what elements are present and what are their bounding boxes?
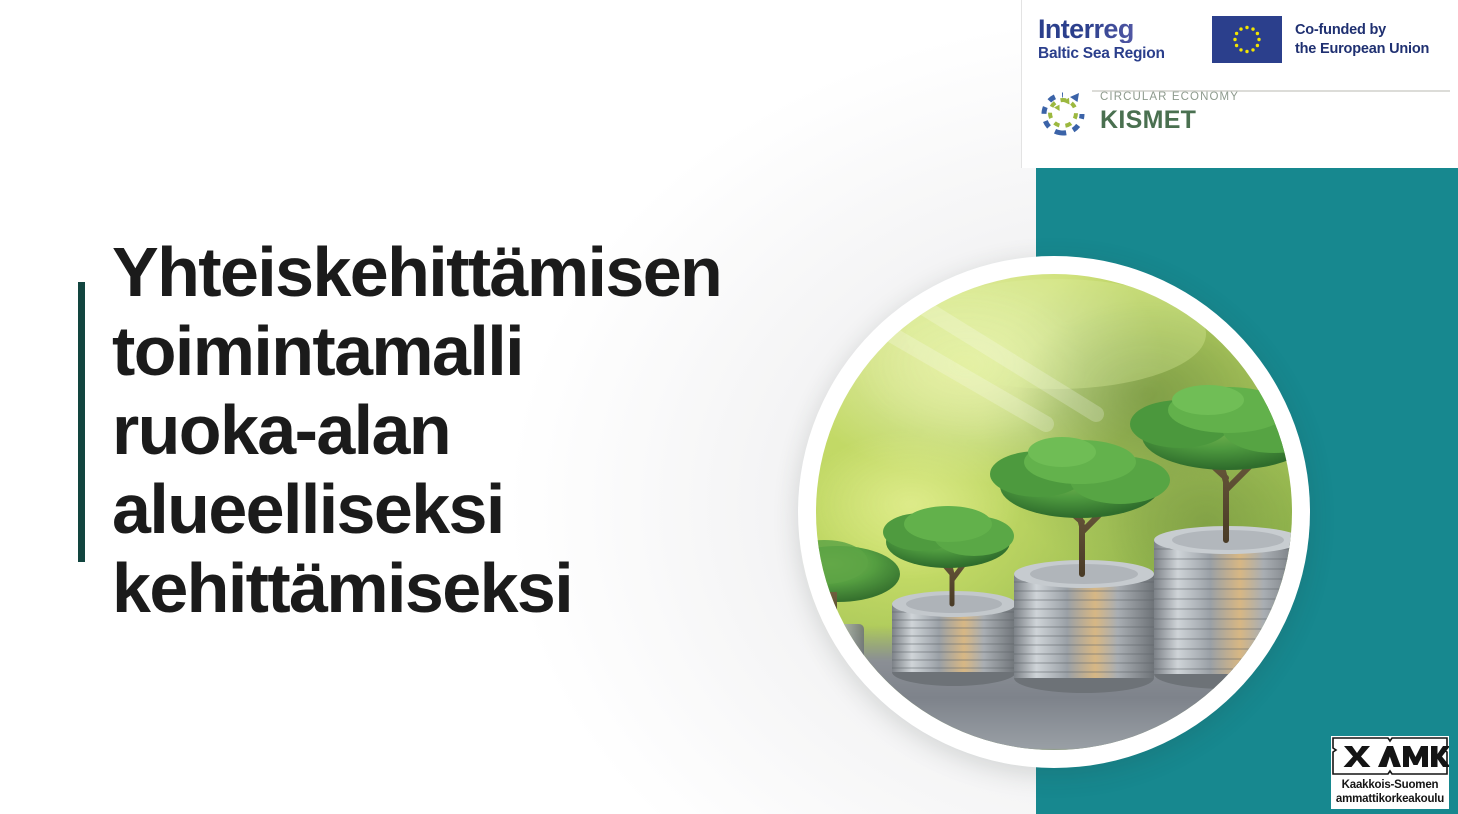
xamk-logo: Kaakkois-Suomen ammattikorkeakoulu	[1331, 736, 1449, 809]
kismet-logo: CIRCULAR ECONOMY KISMET	[1036, 85, 1239, 139]
eu-flag-icon	[1212, 16, 1282, 63]
xamk-wordmark-box	[1331, 736, 1449, 776]
slide-root: Interreg Baltic Sea Region	[0, 0, 1458, 814]
hero-photo	[798, 256, 1310, 768]
logo-row-funding: Interreg Baltic Sea Region	[1038, 14, 1429, 63]
interreg-wordmark: Interreg	[1038, 16, 1190, 43]
eu-funding-logo: Co-funded by the European Union	[1212, 14, 1429, 63]
eu-funding-line2: the European Union	[1295, 40, 1429, 58]
xamk-subtitle: Kaakkois-Suomen ammattikorkeakoulu	[1331, 776, 1449, 809]
interreg-subtitle: Baltic Sea Region	[1038, 45, 1190, 63]
circular-arrow-icon	[1036, 85, 1090, 139]
hero-photo-image	[816, 274, 1292, 750]
logo-header-box: Interreg Baltic Sea Region	[1022, 0, 1458, 168]
kismet-text-block: CIRCULAR ECONOMY KISMET	[1100, 92, 1239, 134]
xamk-subtitle-line1: Kaakkois-Suomen	[1333, 779, 1447, 793]
kismet-tagline: CIRCULAR ECONOMY	[1100, 92, 1239, 104]
kismet-wordmark: KISMET	[1100, 107, 1239, 135]
interreg-logo: Interreg Baltic Sea Region	[1038, 14, 1190, 63]
eu-funding-text: Co-funded by the European Union	[1295, 21, 1429, 57]
eu-funding-line1: Co-funded by	[1295, 21, 1429, 39]
headline-accent-bar	[78, 282, 85, 562]
xamk-subtitle-line2: ammattikorkeakoulu	[1333, 793, 1447, 807]
